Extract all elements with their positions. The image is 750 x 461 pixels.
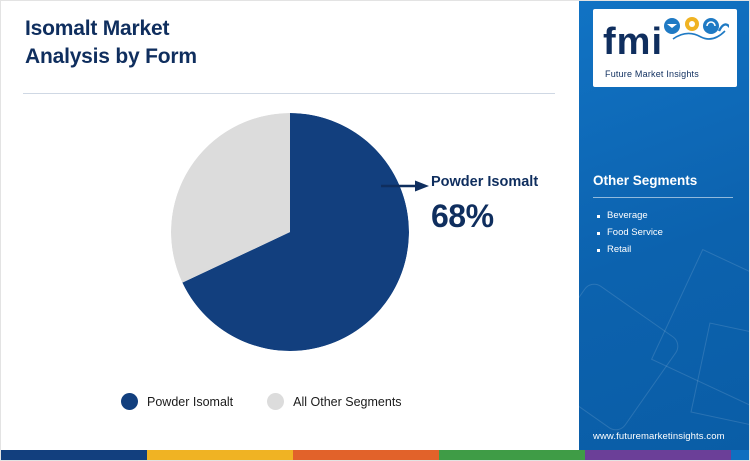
legend-swatch-powder-isomalt xyxy=(121,393,138,410)
legend-label: All Other Segments xyxy=(293,395,401,409)
infographic-page: Isomalt Market Analysis by Form Powder I… xyxy=(0,0,750,461)
bullet-icon xyxy=(597,249,600,252)
pie-slice-group xyxy=(171,113,409,351)
callout-value: 68% xyxy=(431,198,494,235)
bottom-bar-segment-navy xyxy=(1,450,147,460)
bottom-bar-segment-green xyxy=(439,450,585,460)
bullet-icon xyxy=(597,215,600,218)
list-item: Food Service xyxy=(597,226,743,240)
website-url[interactable]: www.futuremarketinsights.com xyxy=(593,431,725,442)
bullet-icon xyxy=(597,232,600,235)
chart-panel: Isomalt Market Analysis by Form Powder I… xyxy=(1,1,579,452)
title-divider xyxy=(23,93,555,94)
list-item: Retail xyxy=(597,243,743,257)
decorative-shape xyxy=(579,279,683,435)
list-item-label: Retail xyxy=(607,243,631,257)
page-title-line2: Analysis by Form xyxy=(25,45,197,68)
legend-item: Powder Isomalt xyxy=(121,393,233,410)
other-segments-list: Beverage Food Service Retail xyxy=(597,209,743,259)
other-segments-heading: Other Segments xyxy=(593,173,697,188)
fmi-logo-text: fmi xyxy=(603,23,663,61)
legend-label: Powder Isomalt xyxy=(147,395,233,409)
list-item-label: Food Service xyxy=(607,226,663,240)
pie-chart xyxy=(171,113,409,351)
bottom-bar-segment-yellow xyxy=(147,450,293,460)
fmi-logo-tagline: Future Market Insights xyxy=(605,69,699,79)
other-segments-divider xyxy=(593,197,733,198)
list-item-label: Beverage xyxy=(607,209,648,223)
callout-label: Powder Isomalt xyxy=(431,174,538,190)
bottom-bar-segment-blue xyxy=(731,450,750,460)
page-title: Isomalt Market Analysis by Form xyxy=(25,15,445,70)
chart-legend: Powder Isomalt All Other Segments xyxy=(121,393,402,410)
pie-chart-svg xyxy=(171,113,409,351)
bottom-color-bar xyxy=(1,450,750,460)
logo-decoration-icon xyxy=(663,17,729,43)
legend-swatch-all-other-segments xyxy=(267,393,284,410)
brand-sidebar: fmi Future Market Insights Other Segment… xyxy=(579,1,750,452)
bottom-bar-segment-orange xyxy=(293,450,439,460)
list-item: Beverage xyxy=(597,209,743,223)
fmi-logo: fmi Future Market Insights xyxy=(593,9,737,87)
arrow-icon xyxy=(381,180,429,192)
page-title-line1: Isomalt Market xyxy=(25,17,169,40)
legend-item: All Other Segments xyxy=(267,393,401,410)
bottom-bar-segment-purple xyxy=(585,450,731,460)
